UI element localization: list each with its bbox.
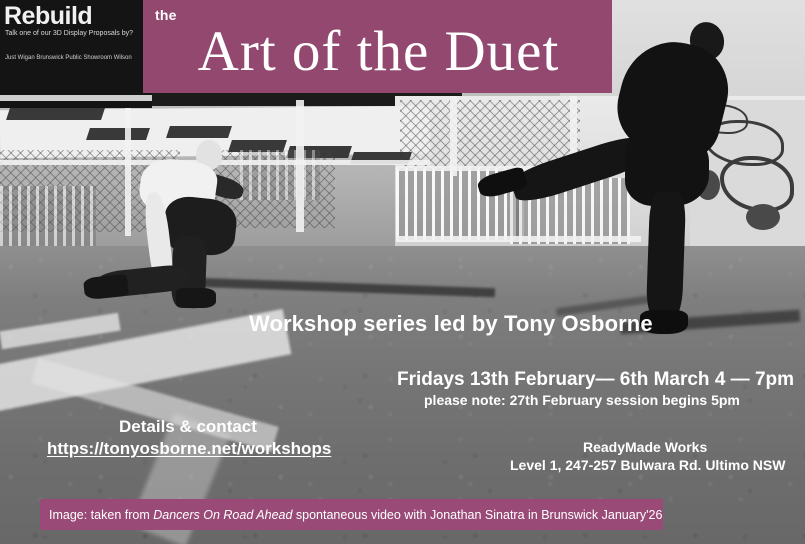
billboard-base-strip [0,95,152,101]
workshop-dates-line: Fridays 13th February— 6th March 4 — 7pm [397,369,794,391]
billboard-smallprint: Just Wigan Brunswick Public Showroom Wil… [5,54,135,63]
vertical-pole [125,108,131,236]
page-title: Art of the Duet [151,19,606,85]
image-credit-text: Image: taken from Dancers On Road Ahead … [40,508,662,522]
vertical-pole [296,100,304,232]
image-credit-bar: Image: taken from Dancers On Road Ahead … [40,499,663,530]
image-credit-suffix: spontaneous video with Jonathan Sinatra … [292,508,662,522]
poster-canvas: Rebuild Talk one of our 3D Display Propo… [0,0,805,544]
vertical-pole [450,96,457,176]
venue-address: Level 1, 247-257 Bulwara Rd. Ultimo NSW [510,457,785,473]
dancer-left-shoe [176,288,216,308]
rebuild-billboard: Rebuild Talk one of our 3D Display Propo… [0,0,152,108]
workshops-url-link[interactable]: https://tonyosborne.net/workshops [47,439,331,459]
barrier-fence [240,150,320,200]
venue-name: ReadyMade Works [583,439,707,455]
barrier-fence [0,186,96,248]
workshop-note-line: please note: 27th February session begin… [424,392,740,408]
graffiti-blob [746,204,780,230]
horizontal-rail [396,236,641,242]
title-banner: the Art of the Duet [143,0,612,93]
details-contact-label: Details & contact [119,417,257,437]
workshop-series-line: Workshop series led by Tony Osborne [249,311,653,337]
dancer-right-standing-leg [646,191,686,318]
billboard-headline: Rebuild [4,2,92,31]
billboard-subline: Talk one of our 3D Display Proposals by? [5,30,135,39]
image-credit-prefix: Image: taken from [49,508,153,522]
image-credit-work-title: Dancers On Road Ahead [153,508,292,522]
awning-slat [166,126,232,138]
dancer-left-shoe [83,274,129,300]
awning-slat [6,108,105,120]
awning-slat [86,128,150,140]
